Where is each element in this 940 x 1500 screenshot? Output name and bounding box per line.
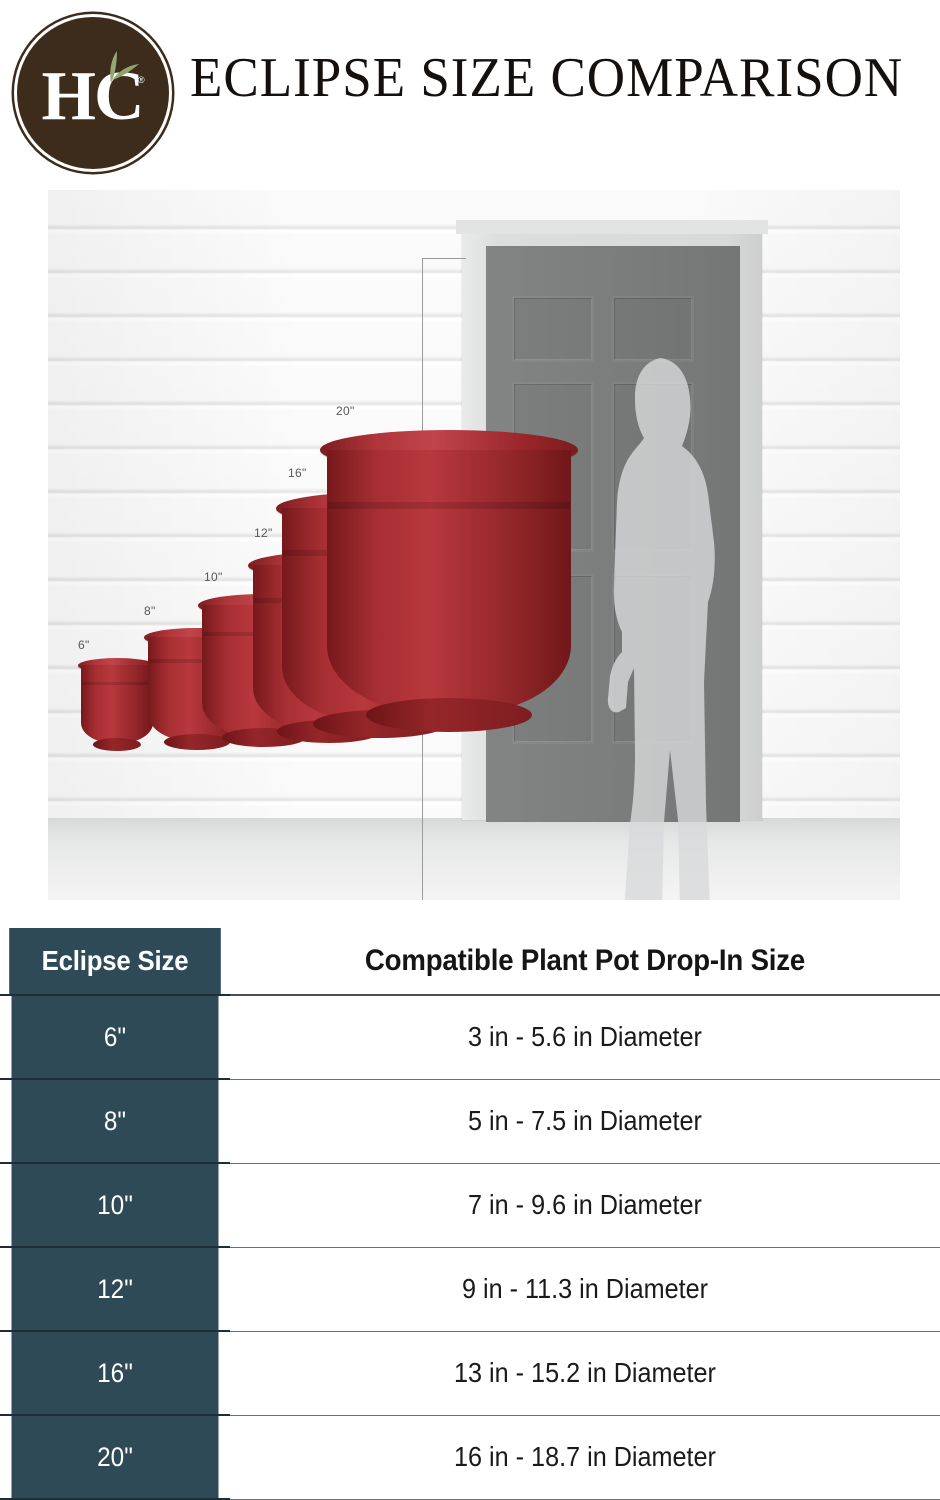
cell-eclipse-size: 16" bbox=[12, 1331, 219, 1415]
column-header-eclipse-size: Eclipse Size bbox=[9, 928, 221, 995]
table-row: 20" 16 in - 18.7 in Diameter bbox=[0, 1415, 940, 1499]
pot-band bbox=[82, 682, 152, 685]
cell-drop-in-size: 16 in - 18.7 in Diameter bbox=[266, 1415, 905, 1499]
cell-eclipse-size: 8" bbox=[12, 1079, 219, 1163]
table-header-row: Eclipse Size Compatible Plant Pot Drop-I… bbox=[0, 928, 940, 995]
pot-label-10in: 10" bbox=[204, 570, 223, 584]
pot-body bbox=[81, 665, 153, 743]
size-chart-table-wrapper: Eclipse Size Compatible Plant Pot Drop-I… bbox=[0, 928, 940, 1500]
table-row: 10" 7 in - 9.6 in Diameter bbox=[0, 1163, 940, 1247]
pot-base bbox=[366, 698, 532, 732]
table-row: 12" 9 in - 11.3 in Diameter bbox=[0, 1247, 940, 1331]
pot-body bbox=[327, 450, 571, 714]
size-chart-table: Eclipse Size Compatible Plant Pot Drop-I… bbox=[0, 928, 940, 1500]
pot-label-6in: 6" bbox=[78, 638, 90, 652]
porch-ground bbox=[48, 818, 900, 900]
pot-label-8in: 8" bbox=[144, 604, 156, 618]
page-title: ECLIPSE SIZE COMPARISON bbox=[190, 46, 930, 110]
column-header-drop-in-size: Compatible Plant Pot Drop-In Size bbox=[258, 928, 911, 995]
pot-20in bbox=[320, 430, 578, 760]
size-comparison-photo: 80" 6" 8" 10" 12" 16" bbox=[48, 190, 900, 900]
cell-eclipse-size: 6" bbox=[12, 995, 219, 1079]
measurement-tick bbox=[422, 258, 466, 259]
page-header: HC ® ECLIPSE SIZE COMPARISON bbox=[0, 0, 940, 185]
registered-trademark-icon: ® bbox=[138, 75, 145, 85]
cell-eclipse-size: 20" bbox=[12, 1415, 219, 1499]
cell-drop-in-size: 3 in - 5.6 in Diameter bbox=[266, 995, 905, 1079]
pot-base bbox=[93, 738, 141, 751]
door-frame-top bbox=[456, 220, 768, 234]
cell-drop-in-size: 5 in - 7.5 in Diameter bbox=[266, 1079, 905, 1163]
pot-label-16in: 16" bbox=[288, 466, 307, 480]
door-panel-top-right bbox=[614, 298, 692, 360]
cell-eclipse-size: 12" bbox=[12, 1247, 219, 1331]
cell-drop-in-size: 9 in - 11.3 in Diameter bbox=[266, 1247, 905, 1331]
pot-label-20in: 20" bbox=[336, 404, 355, 418]
cell-drop-in-size: 7 in - 9.6 in Diameter bbox=[266, 1163, 905, 1247]
door-panel-top-left bbox=[514, 298, 592, 360]
pot-band bbox=[328, 502, 570, 509]
table-row: 8" 5 in - 7.5 in Diameter bbox=[0, 1079, 940, 1163]
brand-logo: HC ® bbox=[14, 14, 172, 172]
cell-drop-in-size: 13 in - 15.2 in Diameter bbox=[266, 1331, 905, 1415]
cell-eclipse-size: 10" bbox=[12, 1163, 219, 1247]
logo-inner: HC bbox=[17, 17, 169, 169]
pot-label-12in: 12" bbox=[254, 526, 273, 540]
table-row: 6" 3 in - 5.6 in Diameter bbox=[0, 995, 940, 1079]
table-row: 16" 13 in - 15.2 in Diameter bbox=[0, 1331, 940, 1415]
leaf-icon bbox=[97, 49, 141, 85]
person-silhouette bbox=[604, 352, 728, 900]
